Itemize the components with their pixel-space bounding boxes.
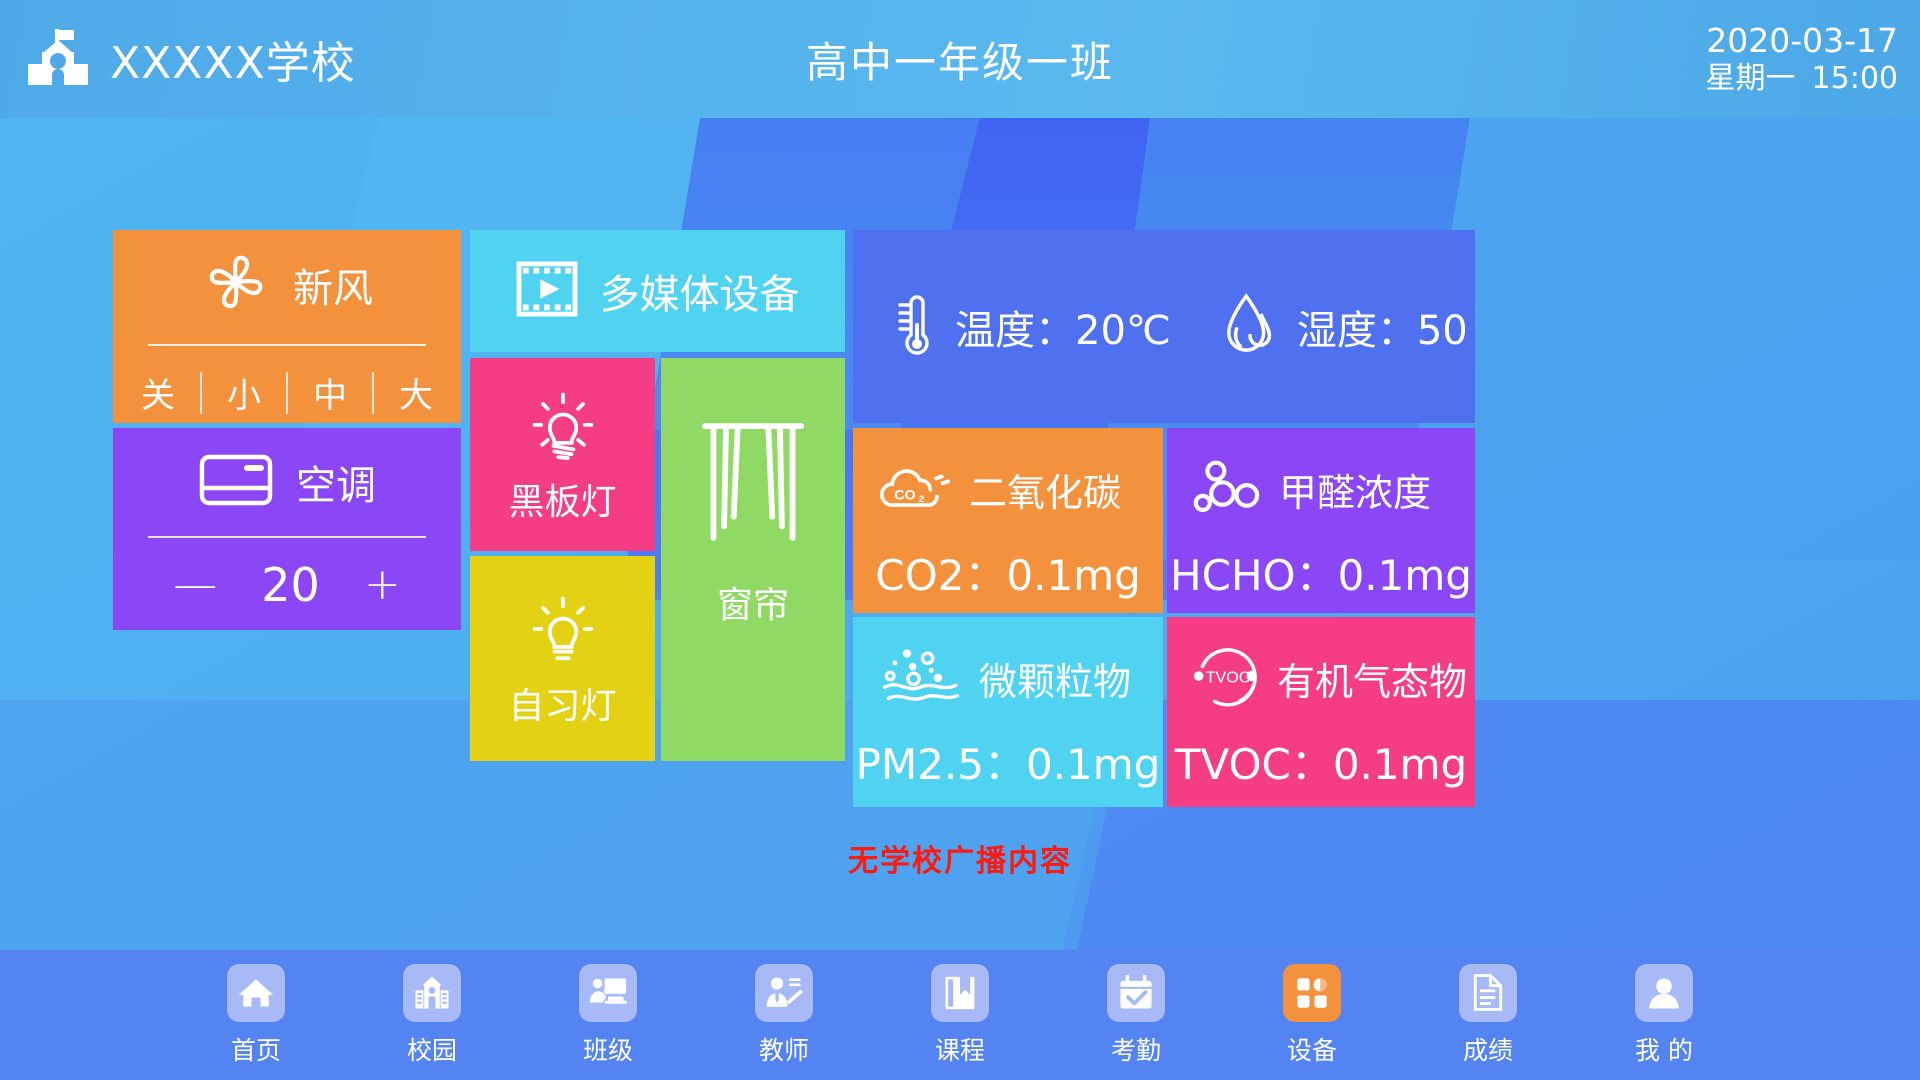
nav-label-devices: 设备 [1287,1031,1337,1067]
tvoc-value: TVOC：0.1mg [1167,731,1475,792]
humidity-text: 湿度：50 [1297,298,1468,356]
co2-sensor-card[interactable]: CO 2 二氧化碳 CO2：0.1mg [853,428,1163,613]
main-content: 新风 关 小 中 大 空调 — 20 [0,118,1920,950]
header-datetime: 2020-03-17 星期一15:00 [1706,0,1898,118]
header-time: 15:00 [1812,61,1898,96]
co2-label: 二氧化碳 [969,462,1121,517]
tvoc-sensor-card[interactable]: TVOC 有机气态物 TVOC：0.1mg [1167,617,1475,807]
nav-item-course[interactable]: 课程 [872,964,1048,1067]
tvoc-orbit-icon: TVOC [1193,641,1263,715]
nav-label-course: 课程 [935,1031,985,1067]
fresh-air-modes: 关 小 中 大 [113,368,461,417]
teacher-icon [755,964,813,1022]
molecule-icon [1193,458,1265,520]
header-left: XXXXX学校 [22,23,356,95]
home-icon [227,964,285,1022]
temperature-increase-button[interactable]: + [364,563,401,607]
temperature-stepper: — 20 + [113,558,461,612]
co2-cloud-icon: CO 2 [879,459,955,519]
nav-label-mine: 我 的 [1635,1031,1693,1067]
fresh-air-mode-medium[interactable]: 中 [313,368,347,417]
multimedia-card[interactable]: 多媒体设备 [470,230,845,352]
tvoc-header: TVOC 有机气态物 [1167,635,1475,721]
svg-text:CO: CO [894,487,915,503]
hcho-label: 甲醛浓度 [1279,462,1431,517]
co2-header: CO 2 二氧化碳 [853,446,1163,532]
study-lamp-label: 自习灯 [508,677,616,729]
hcho-sensor-card[interactable]: 甲醛浓度 HCHO：0.1mg [1167,428,1475,613]
nav-item-teacher[interactable]: 教师 [696,964,872,1067]
hcho-value: HCHO：0.1mg [1167,542,1475,603]
nav-label-campus: 校园 [407,1031,457,1067]
curtain-icon [699,420,807,550]
bottom-navigation: 首页 校园 [0,950,1920,1080]
study-lamp-card[interactable]: 自习灯 [470,556,655,761]
svg-text:2: 2 [919,494,924,505]
nav-item-class[interactable]: 班级 [520,964,696,1067]
co2-value: CO2：0.1mg [853,542,1163,603]
pm25-value: PM2.5：0.1mg [853,731,1163,792]
pm25-label: 微颗粒物 [979,651,1131,706]
svg-text:TVOC: TVOC [1206,669,1251,687]
nav-item-attendance[interactable]: 考勤 [1048,964,1224,1067]
temperature-sensor: 温度：20℃ [895,289,1171,365]
header-date: 2020-03-17 [1706,22,1898,61]
nav-label-mine-text: 我 的 [1635,1036,1693,1065]
nav-item-devices[interactable]: 设备 [1224,964,1400,1067]
mode-separator [200,372,202,414]
mode-separator [286,372,288,414]
hcho-header: 甲醛浓度 [1167,446,1475,532]
nav-label-class: 班级 [583,1031,633,1067]
school-name: XXXXX学校 [110,27,356,91]
blackboard-lamp-card[interactable]: 黑板灯 [470,358,655,551]
nav-item-home[interactable]: 首页 [168,964,344,1067]
fresh-air-header: 新风 [113,230,461,340]
blackboard-lamp-label: 黑板灯 [508,473,616,525]
curtain-card[interactable]: 窗帘 [661,358,845,761]
temperature-value: 20 [261,558,320,612]
particles-icon [879,645,965,711]
humidity-sensor: 湿度：50 [1223,290,1468,364]
pm25-sensor-card[interactable]: 微颗粒物 PM2.5：0.1mg [853,617,1163,807]
campus-icon [403,964,461,1022]
nav-item-grades[interactable]: 成绩 [1400,964,1576,1067]
air-conditioner-header: 空调 [113,428,461,536]
devices-icon [1283,964,1341,1022]
multimedia-label: 多媒体设备 [600,262,800,320]
water-drop-icon [1223,290,1281,364]
nav-label-grades: 成绩 [1463,1031,1513,1067]
film-play-icon [516,261,578,321]
nav-label-attendance: 考勤 [1111,1031,1161,1067]
nav-label-home: 首页 [231,1031,281,1067]
fan-icon [201,248,271,322]
pm25-header: 微颗粒物 [853,635,1163,721]
temperature-text: 温度：20℃ [955,298,1171,356]
air-conditioner-card[interactable]: 空调 — 20 + [113,428,461,630]
school-building-icon [22,23,94,95]
light-bulb-icon [527,589,599,669]
user-icon [1635,964,1693,1022]
nav-label-teacher: 教师 [759,1031,809,1067]
thermometer-icon [895,289,939,365]
fresh-air-divider [148,344,426,346]
broadcast-message: 无学校广播内容 [0,836,1920,880]
fresh-air-mode-off[interactable]: 关 [141,368,175,417]
fresh-air-card[interactable]: 新风 关 小 中 大 [113,230,461,423]
classroom-icon [579,964,637,1022]
fresh-air-label: 新风 [293,256,373,314]
temp-humidity-card: 温度：20℃ 湿度：50 [853,230,1475,423]
air-conditioner-divider [148,536,426,538]
attendance-icon [1107,964,1165,1022]
curtain-label: 窗帘 [717,576,789,628]
app-header: XXXXX学校 高中一年级一班 2020-03-17 星期一15:00 [0,0,1920,118]
tvoc-label: 有机气态物 [1277,651,1467,706]
air-conditioner-label: 空调 [296,453,376,511]
multimedia-header: 多媒体设备 [470,230,845,352]
temperature-decrease-button[interactable]: — [173,563,217,607]
book-icon [931,964,989,1022]
air-conditioner-icon [198,452,274,512]
light-bulb-icon [527,385,599,465]
fresh-air-mode-low[interactable]: 小 [227,368,261,417]
header-weekday-time: 星期一15:00 [1706,61,1898,96]
nav-item-campus[interactable]: 校园 [344,964,520,1067]
nav-item-mine[interactable]: 我 的 [1576,964,1752,1067]
header-weekday: 星期一 [1706,61,1796,96]
fresh-air-mode-high[interactable]: 大 [399,368,433,417]
document-icon [1459,964,1517,1022]
mode-separator [372,372,374,414]
